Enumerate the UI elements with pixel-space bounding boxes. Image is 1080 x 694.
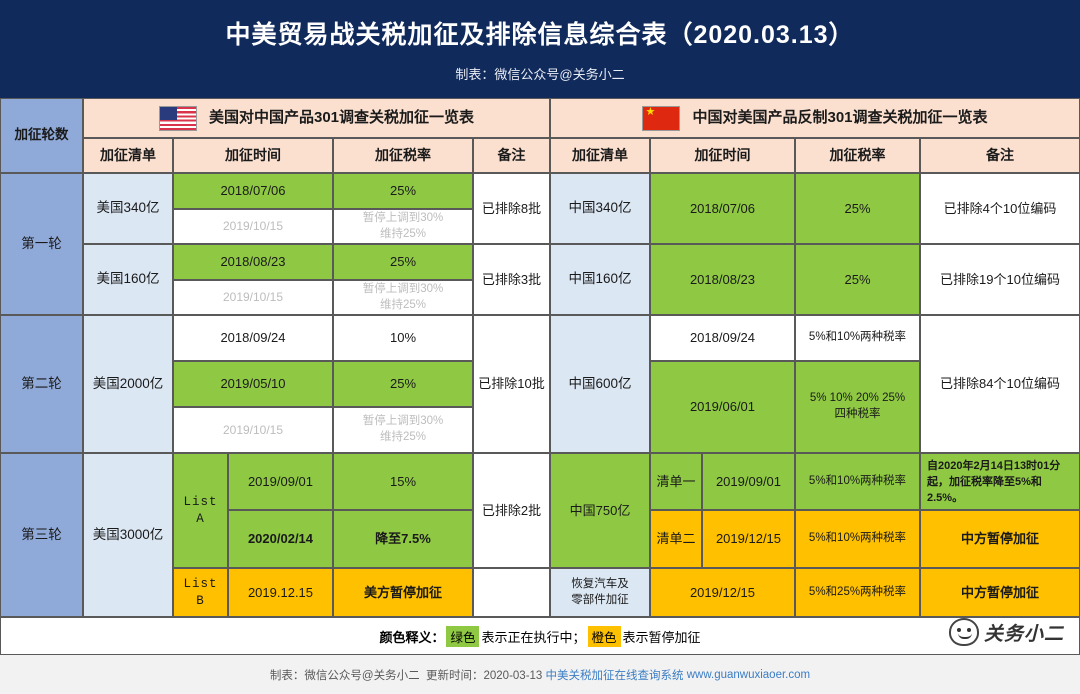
tariff-table: 加征轮数 美国对中国产品301调查关税加征一览表 中国对美国产品反制301调查关… bbox=[0, 98, 1080, 617]
cn-flag-icon bbox=[642, 106, 680, 131]
us-time-r2-3: 2019/10/15 bbox=[173, 407, 333, 453]
footer-url[interactable]: www.guanwuxiaoer.com bbox=[687, 669, 810, 681]
us-time-r3-b: 2019.12.15 bbox=[228, 568, 333, 617]
page-footer: 制表：微信公众号@关务小二 更新时间：2020-03-13 中美关税加征在线查询… bbox=[0, 655, 1080, 694]
column-header-cn-list: 加征清单 bbox=[550, 138, 650, 173]
cn-time-r1a: 2018/07/06 bbox=[650, 173, 795, 244]
us-time-r2-2: 2019/05/10 bbox=[173, 361, 333, 407]
cn-note-r1b: 已排除19个10位编码 bbox=[920, 244, 1080, 315]
us-time-r1a-2: 2019/10/15 bbox=[173, 209, 333, 244]
cn-time-r2-1: 2018/09/24 bbox=[650, 315, 795, 361]
us-time-r2-1: 2018/09/24 bbox=[173, 315, 333, 361]
cn-list-r2: 中国600亿 bbox=[550, 315, 650, 453]
cn-rate-r3-1: 5%和10%两种税率 bbox=[795, 453, 920, 510]
cn-time-r3-2: 2019/12/15 bbox=[702, 510, 795, 568]
legend-green-chip: 绿色 bbox=[446, 626, 479, 647]
us-time-r1a-1: 2018/07/06 bbox=[173, 173, 333, 209]
round-label-1: 第一轮 bbox=[0, 173, 83, 315]
brand-logo: 关务小二 bbox=[949, 618, 1064, 646]
cn-time-r1b: 2018/08/23 bbox=[650, 244, 795, 315]
round-label-2: 第二轮 bbox=[0, 315, 83, 453]
group-header-cn-label: 中国对美国产品反制301调查关税加征一览表 bbox=[692, 108, 987, 128]
us-time-r3-a1: 2019/09/01 bbox=[228, 453, 333, 510]
us-note-r3-b bbox=[473, 568, 550, 617]
group-header-us-label: 美国对中国产品301调查关税加征一览表 bbox=[209, 108, 474, 128]
title-banner: 中美贸易战关税加征及排除信息综合表（2020.03.13） 制表：微信公众号@关… bbox=[0, 0, 1080, 98]
cn-rate-r3-2: 5%和10%两种税率 bbox=[795, 510, 920, 568]
us-note-r3: 已排除2批 bbox=[473, 453, 550, 568]
footer-updated: 更新时间：2020-03-13 bbox=[426, 667, 542, 683]
cn-list-r1a: 中国340亿 bbox=[550, 173, 650, 244]
us-rate-r3-a1: 15% bbox=[333, 453, 473, 510]
us-list-r3: 美国3000亿 bbox=[83, 453, 173, 617]
cn-note-r3-3: 中方暂停加征 bbox=[920, 568, 1080, 617]
cn-sublist-r3-3: 恢复汽车及 零部件加征 bbox=[550, 568, 650, 617]
cn-rate-r3-3: 5%和25%两种税率 bbox=[795, 568, 920, 617]
column-header-cn-time: 加征时间 bbox=[650, 138, 795, 173]
cn-note-r3-1: 自2020年2月14日13时01分起，加征税率降至5%和2.5%。 bbox=[920, 453, 1080, 510]
page-subtitle: 制表：微信公众号@关务小二 bbox=[0, 50, 1080, 83]
us-note-r2: 已排除10批 bbox=[473, 315, 550, 453]
cn-sublist-r3-2: 清单二 bbox=[650, 510, 702, 568]
group-header-us: 美国对中国产品301调查关税加征一览表 bbox=[83, 98, 550, 138]
cn-note-r1a: 已排除4个10位编码 bbox=[920, 173, 1080, 244]
round-label-3: 第三轮 bbox=[0, 453, 83, 617]
us-time-r3-a2: 2020/02/14 bbox=[228, 510, 333, 568]
page-title: 中美贸易战关税加征及排除信息综合表（2020.03.13） bbox=[0, 0, 1080, 50]
cn-note-r2: 已排除84个10位编码 bbox=[920, 315, 1080, 453]
legend-label: 颜色释义： bbox=[379, 630, 444, 645]
cn-rate-r1b: 25% bbox=[795, 244, 920, 315]
cn-time-r3-3: 2019/12/15 bbox=[650, 568, 795, 617]
column-header-us-note: 备注 bbox=[473, 138, 550, 173]
smiley-face-icon bbox=[949, 618, 979, 646]
us-rate-r2-1: 10% bbox=[333, 315, 473, 361]
us-rate-r3-a2: 降至7.5% bbox=[333, 510, 473, 568]
us-note-r1a: 已排除8批 bbox=[473, 173, 550, 244]
column-header-us-rate: 加征税率 bbox=[333, 138, 473, 173]
brand-name: 关务小二 bbox=[984, 619, 1064, 646]
color-legend: 颜色释义：绿色表示正在执行中；橙色表示暂停加征 bbox=[0, 617, 1080, 655]
cn-time-r3-1: 2019/09/01 bbox=[702, 453, 795, 510]
column-header-cn-note: 备注 bbox=[920, 138, 1080, 173]
legend-orange-chip: 橙色 bbox=[588, 626, 621, 647]
us-list-r1b: 美国160亿 bbox=[83, 244, 173, 315]
footer-system[interactable]: 中美关税加征在线查询系统 bbox=[546, 667, 684, 683]
us-rate-r1a-2: 暂停上调到30% 维持25% bbox=[333, 209, 473, 244]
legend-green-text: 表示正在执行中； bbox=[481, 630, 585, 645]
us-rate-r3-b: 美方暂停加征 bbox=[333, 568, 473, 617]
cn-rate-r2-2: 5% 10% 20% 25% 四种税率 bbox=[795, 361, 920, 453]
us-rate-r2-2: 25% bbox=[333, 361, 473, 407]
cn-sublist-r3-1: 清单一 bbox=[650, 453, 702, 510]
column-header-us-list: 加征清单 bbox=[83, 138, 173, 173]
legend-orange-text: 表示暂停加征 bbox=[623, 630, 701, 645]
footer-maker: 制表：微信公众号@关务小二 bbox=[270, 667, 420, 683]
cn-list-r1b: 中国160亿 bbox=[550, 244, 650, 315]
cn-time-r2-2: 2019/06/01 bbox=[650, 361, 795, 453]
us-flag-icon bbox=[159, 106, 197, 131]
us-sublist-r3-a: List A bbox=[173, 453, 228, 568]
us-time-r1b-1: 2018/08/23 bbox=[173, 244, 333, 280]
us-rate-r1a-1: 25% bbox=[333, 173, 473, 209]
us-rate-r2-3: 暂停上调到30% 维持25% bbox=[333, 407, 473, 453]
column-header-cn-rate: 加征税率 bbox=[795, 138, 920, 173]
column-header-round: 加征轮数 bbox=[0, 98, 83, 173]
us-note-r1b: 已排除3批 bbox=[473, 244, 550, 315]
us-sublist-r3-b: List B bbox=[173, 568, 228, 617]
column-header-us-time: 加征时间 bbox=[173, 138, 333, 173]
cn-list-r3: 中国750亿 bbox=[550, 453, 650, 568]
cn-note-r3-2: 中方暂停加征 bbox=[920, 510, 1080, 568]
cn-rate-r2-1: 5%和10%两种税率 bbox=[795, 315, 920, 361]
us-rate-r1b-2: 暂停上调到30% 维持25% bbox=[333, 280, 473, 315]
group-header-cn: 中国对美国产品反制301调查关税加征一览表 bbox=[550, 98, 1080, 138]
us-rate-r1b-1: 25% bbox=[333, 244, 473, 280]
us-list-r1a: 美国340亿 bbox=[83, 173, 173, 244]
us-list-r2: 美国2000亿 bbox=[83, 315, 173, 453]
us-time-r1b-2: 2019/10/15 bbox=[173, 280, 333, 315]
cn-rate-r1a: 25% bbox=[795, 173, 920, 244]
